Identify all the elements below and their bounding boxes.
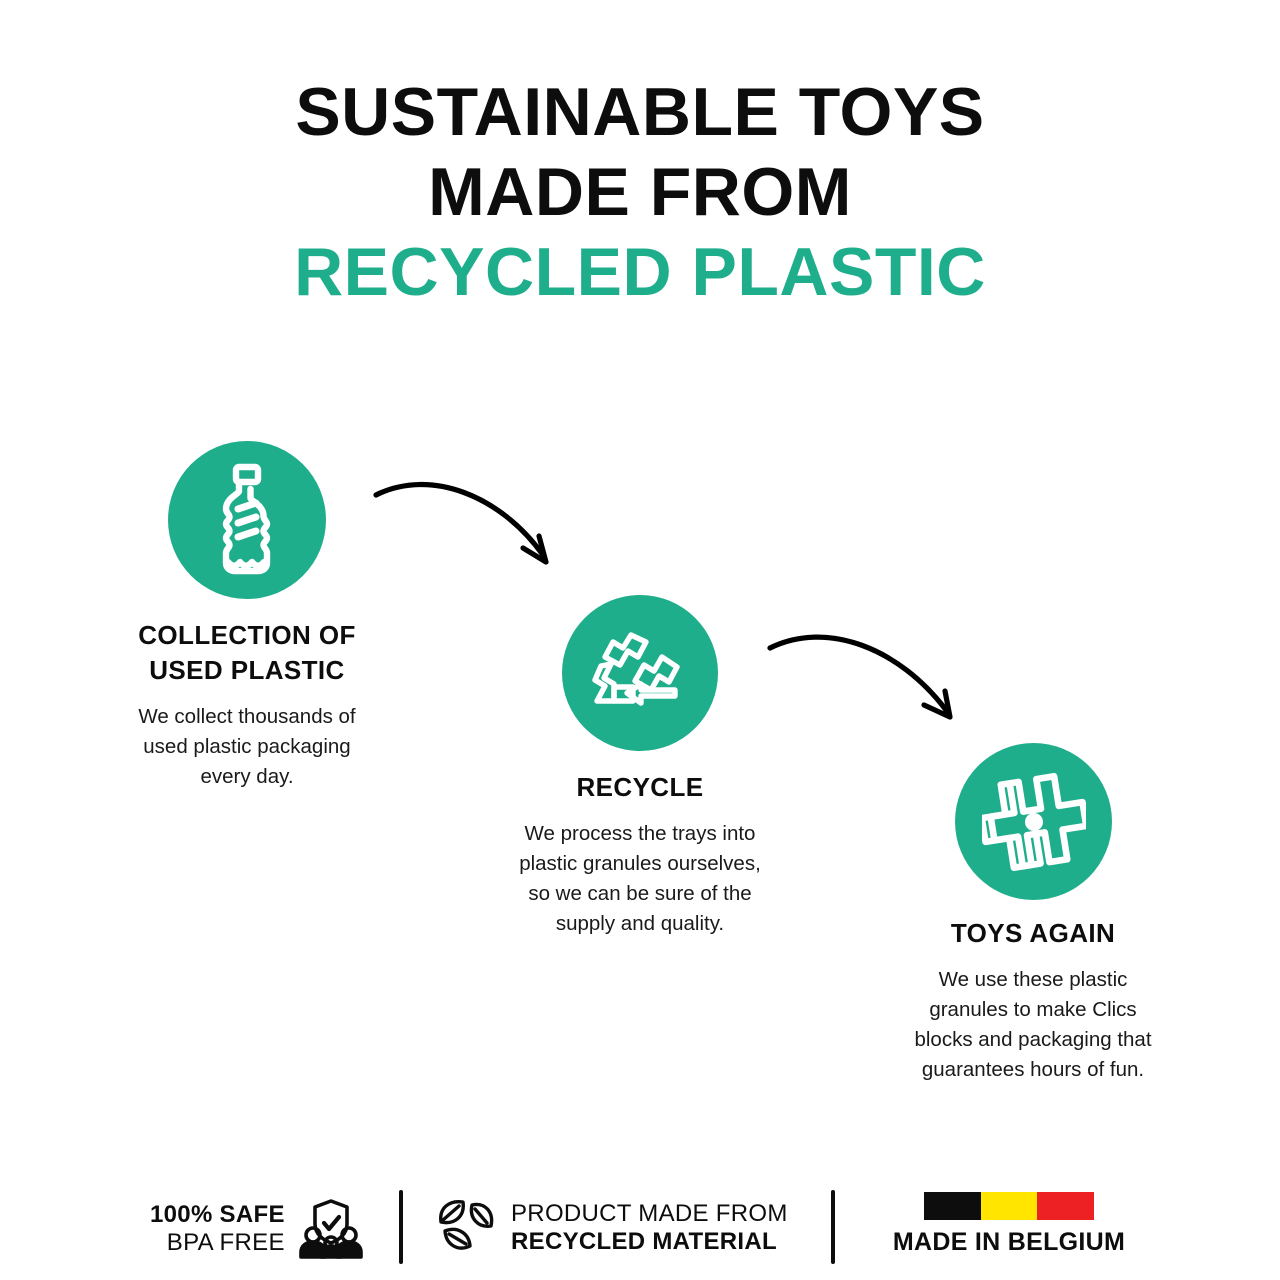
badge-recycled-material-line-1: PRODUCT MADE FROM bbox=[511, 1200, 788, 1228]
step-1-icon-circle bbox=[168, 441, 326, 599]
badge-bpa-free-line-2: BPA FREE bbox=[150, 1229, 285, 1257]
footer-divider-1 bbox=[399, 1190, 403, 1264]
step-2-heading-line-1: RECYCLE bbox=[465, 770, 815, 805]
step-3-icon-circle bbox=[955, 743, 1112, 900]
badge-recycled-material-text: PRODUCT MADE FROM RECYCLED MATERIAL bbox=[511, 1200, 788, 1257]
step-2-body-line-2: plastic granules ourselves, bbox=[465, 849, 815, 879]
step-1-body-line-2: used plastic packaging bbox=[72, 732, 422, 762]
title-line-1: SUSTAINABLE TOYS bbox=[0, 72, 1280, 152]
badge-made-in-belgium: MADE IN BELGIUM bbox=[884, 1192, 1134, 1257]
step-3-body-line-2: granules to make Clics bbox=[858, 995, 1208, 1025]
step-1-heading-line-1: COLLECTION OF bbox=[72, 618, 422, 653]
clics-block-icon bbox=[982, 770, 1086, 874]
step-3-body-line-4: guarantees hours of fun. bbox=[858, 1055, 1208, 1085]
step-3-heading-line-1: TOYS AGAIN bbox=[858, 916, 1208, 951]
badge-made-in-belgium-label: MADE IN BELGIUM bbox=[884, 1228, 1134, 1257]
badge-bpa-free: 100% SAFE BPA FREE bbox=[150, 1198, 363, 1260]
flag-stripe-black bbox=[924, 1192, 981, 1220]
title-line-3-accent: RECYCLED PLASTIC bbox=[0, 232, 1280, 312]
page-title: SUSTAINABLE TOYS MADE FROM RECYCLED PLAS… bbox=[0, 72, 1280, 312]
infographic-canvas: SUSTAINABLE TOYS MADE FROM RECYCLED PLAS… bbox=[0, 0, 1280, 1280]
step-2-body-line-3: so we can be sure of the bbox=[465, 879, 815, 909]
step-2-body-line-4: supply and quality. bbox=[465, 909, 815, 939]
plastic-bottle-icon bbox=[208, 463, 286, 577]
step-2-heading: RECYCLE bbox=[465, 770, 815, 805]
step-1-body: We collect thousands of used plastic pac… bbox=[72, 702, 422, 792]
recycle-icon bbox=[592, 627, 688, 719]
shield-family-icon bbox=[299, 1198, 363, 1260]
belgium-flag-icon bbox=[924, 1192, 1094, 1220]
step-3-heading: TOYS AGAIN bbox=[858, 916, 1208, 951]
step-3-body-line-1: We use these plastic bbox=[858, 965, 1208, 995]
badge-recycled-material-line-2: RECYCLED MATERIAL bbox=[511, 1228, 788, 1256]
arrow-step1-to-step2 bbox=[360, 460, 590, 585]
step-2-body: We process the trays into plastic granul… bbox=[465, 819, 815, 939]
footer-badges: 100% SAFE BPA FREE bbox=[0, 1176, 1280, 1280]
step-1-heading-line-2: USED PLASTIC bbox=[72, 653, 422, 688]
badge-recycled-material: PRODUCT MADE FROM RECYCLED MATERIAL bbox=[435, 1198, 788, 1258]
footer-divider-2 bbox=[831, 1190, 835, 1264]
step-2-text: RECYCLE We process the trays into plasti… bbox=[465, 770, 815, 939]
step-3-body-line-3: blocks and packaging that bbox=[858, 1025, 1208, 1055]
step-1-text: COLLECTION OF USED PLASTIC We collect th… bbox=[72, 618, 422, 792]
three-leaves-icon bbox=[435, 1198, 497, 1258]
title-line-2: MADE FROM bbox=[0, 152, 1280, 232]
badge-bpa-free-text: 100% SAFE BPA FREE bbox=[150, 1201, 285, 1258]
step-1-heading: COLLECTION OF USED PLASTIC bbox=[72, 618, 422, 688]
step-3-body: We use these plastic granules to make Cl… bbox=[858, 965, 1208, 1085]
step-2-icon-circle bbox=[562, 595, 718, 751]
step-2-body-line-1: We process the trays into bbox=[465, 819, 815, 849]
flag-stripe-yellow bbox=[981, 1192, 1038, 1220]
step-1-body-line-3: every day. bbox=[72, 762, 422, 792]
arrow-step2-to-step3 bbox=[752, 612, 992, 737]
step-1-body-line-1: We collect thousands of bbox=[72, 702, 422, 732]
badge-bpa-free-line-1: 100% SAFE bbox=[150, 1201, 285, 1229]
step-3-text: TOYS AGAIN We use these plastic granules… bbox=[858, 916, 1208, 1085]
flag-stripe-red bbox=[1037, 1192, 1094, 1220]
